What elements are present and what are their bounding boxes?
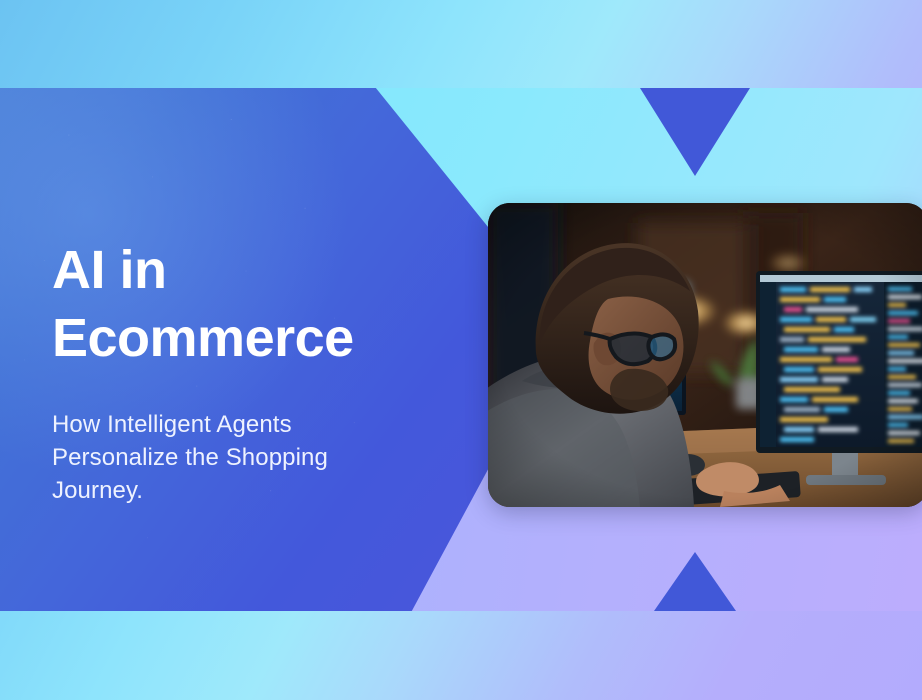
page-title: AI in Ecommerce [52, 236, 452, 372]
headline-line-2: Ecommerce [52, 304, 452, 372]
hero-photo [488, 203, 922, 507]
poster-canvas: AI in Ecommerce How Intelligent Agents P… [0, 0, 922, 700]
subheadline-line-1: How Intelligent Agents [52, 408, 452, 441]
page-subtitle: How Intelligent Agents Personalize the S… [52, 408, 452, 507]
subheadline-line-3: Journey. [52, 474, 452, 507]
headline-line-1: AI in [52, 236, 452, 304]
text-block: AI in Ecommerce How Intelligent Agents P… [52, 236, 452, 507]
subheadline-line-2: Personalize the Shopping [52, 441, 452, 474]
hero-photo-illustration [488, 203, 922, 507]
poster-card: AI in Ecommerce How Intelligent Agents P… [0, 88, 922, 611]
